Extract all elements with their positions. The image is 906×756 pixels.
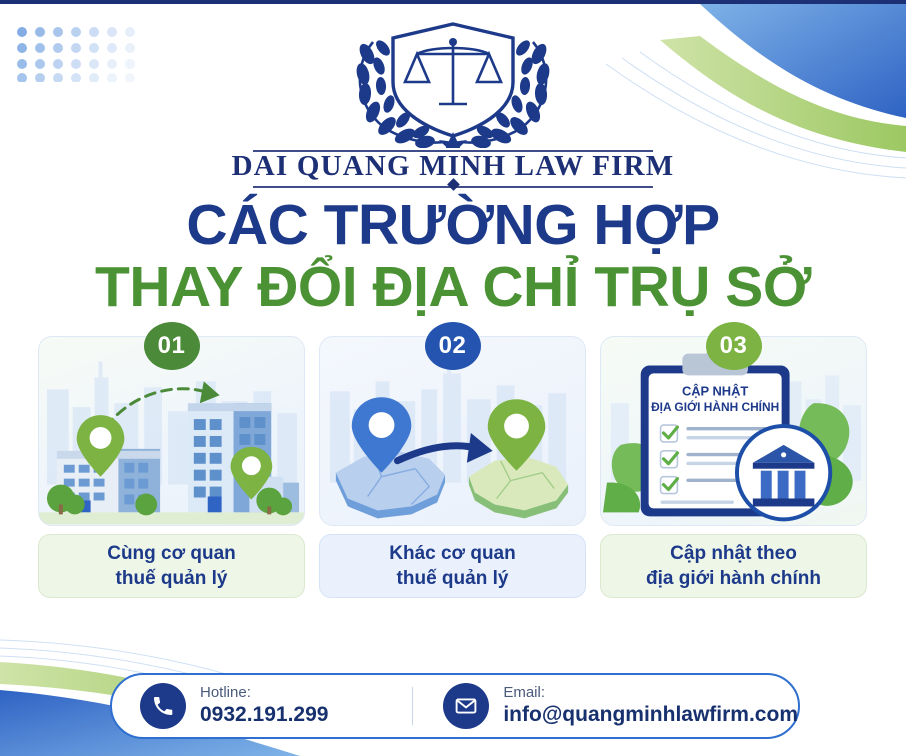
step-badge-03: 03 — [706, 322, 762, 370]
email-block[interactable]: Email: info@quangminhlawfirm.com — [413, 683, 798, 729]
phone-icon — [140, 683, 186, 729]
case-card-03[interactable]: CẬP NHẬT ĐỊA GIỚI HÀNH CHÍNH — [600, 336, 867, 598]
card-02-caption-line-2: thuế quản lý — [397, 566, 509, 591]
card-01-caption-line-2: thuế quản lý — [116, 566, 228, 591]
step-badge-01: 01 — [144, 322, 200, 370]
contact-bar: Hotline: 0932.191.299 Email: info@quangm… — [110, 673, 800, 739]
card-01-caption-line-1: Cùng cơ quan — [107, 541, 236, 566]
card-02-caption: Khác cơ quan thuế quản lý — [319, 534, 586, 598]
clipboard-title-line-1: CẬP NHẬT — [682, 383, 748, 398]
card-03-caption-line-1: Cập nhật theo — [670, 541, 797, 566]
firm-logo — [0, 8, 906, 148]
government-building-badge — [737, 426, 830, 519]
card-02-caption-line-1: Khác cơ quan — [389, 541, 515, 566]
headline-line-1: CÁC TRƯỜNG HỢP — [0, 196, 906, 254]
step-badge-02: 02 — [425, 322, 481, 370]
hotline-value: 0932.191.299 — [200, 702, 328, 728]
scales-of-justice-shield-laurel-icon — [327, 8, 579, 148]
case-card-01[interactable]: 01 Cùng cơ quan thuế quản lý — [38, 336, 305, 598]
envelope-icon — [443, 683, 489, 729]
infographic-canvas: DAI QUANG MINH LAW FIRM CÁC TRƯỜNG HỢP T… — [0, 0, 906, 756]
case-cards: 01 Cùng cơ quan thuế quản lý — [38, 336, 868, 598]
card-03-caption-line-2: địa giới hành chính — [646, 566, 821, 591]
email-value: info@quangminhlawfirm.com — [503, 702, 798, 728]
headline-line-2: THAY ĐỔI ĐỊA CHỈ TRỤ SỞ — [0, 258, 906, 316]
card-01-caption: Cùng cơ quan thuế quản lý — [38, 534, 305, 598]
hotline-block[interactable]: Hotline: 0932.191.299 — [112, 683, 412, 729]
top-accent-bar — [0, 0, 906, 4]
page-title: CÁC TRƯỜNG HỢP THAY ĐỔI ĐỊA CHỈ TRỤ SỞ — [0, 196, 906, 316]
hotline-label: Hotline: — [200, 684, 328, 702]
email-label: Email: — [503, 684, 798, 702]
card-03-caption: Cập nhật theo địa giới hành chính — [600, 534, 867, 598]
clipboard-title-line-2: ĐỊA GIỚI HÀNH CHÍNH — [651, 399, 779, 414]
case-card-02[interactable]: 02 Khác cơ quan thuế quản lý — [319, 336, 586, 598]
